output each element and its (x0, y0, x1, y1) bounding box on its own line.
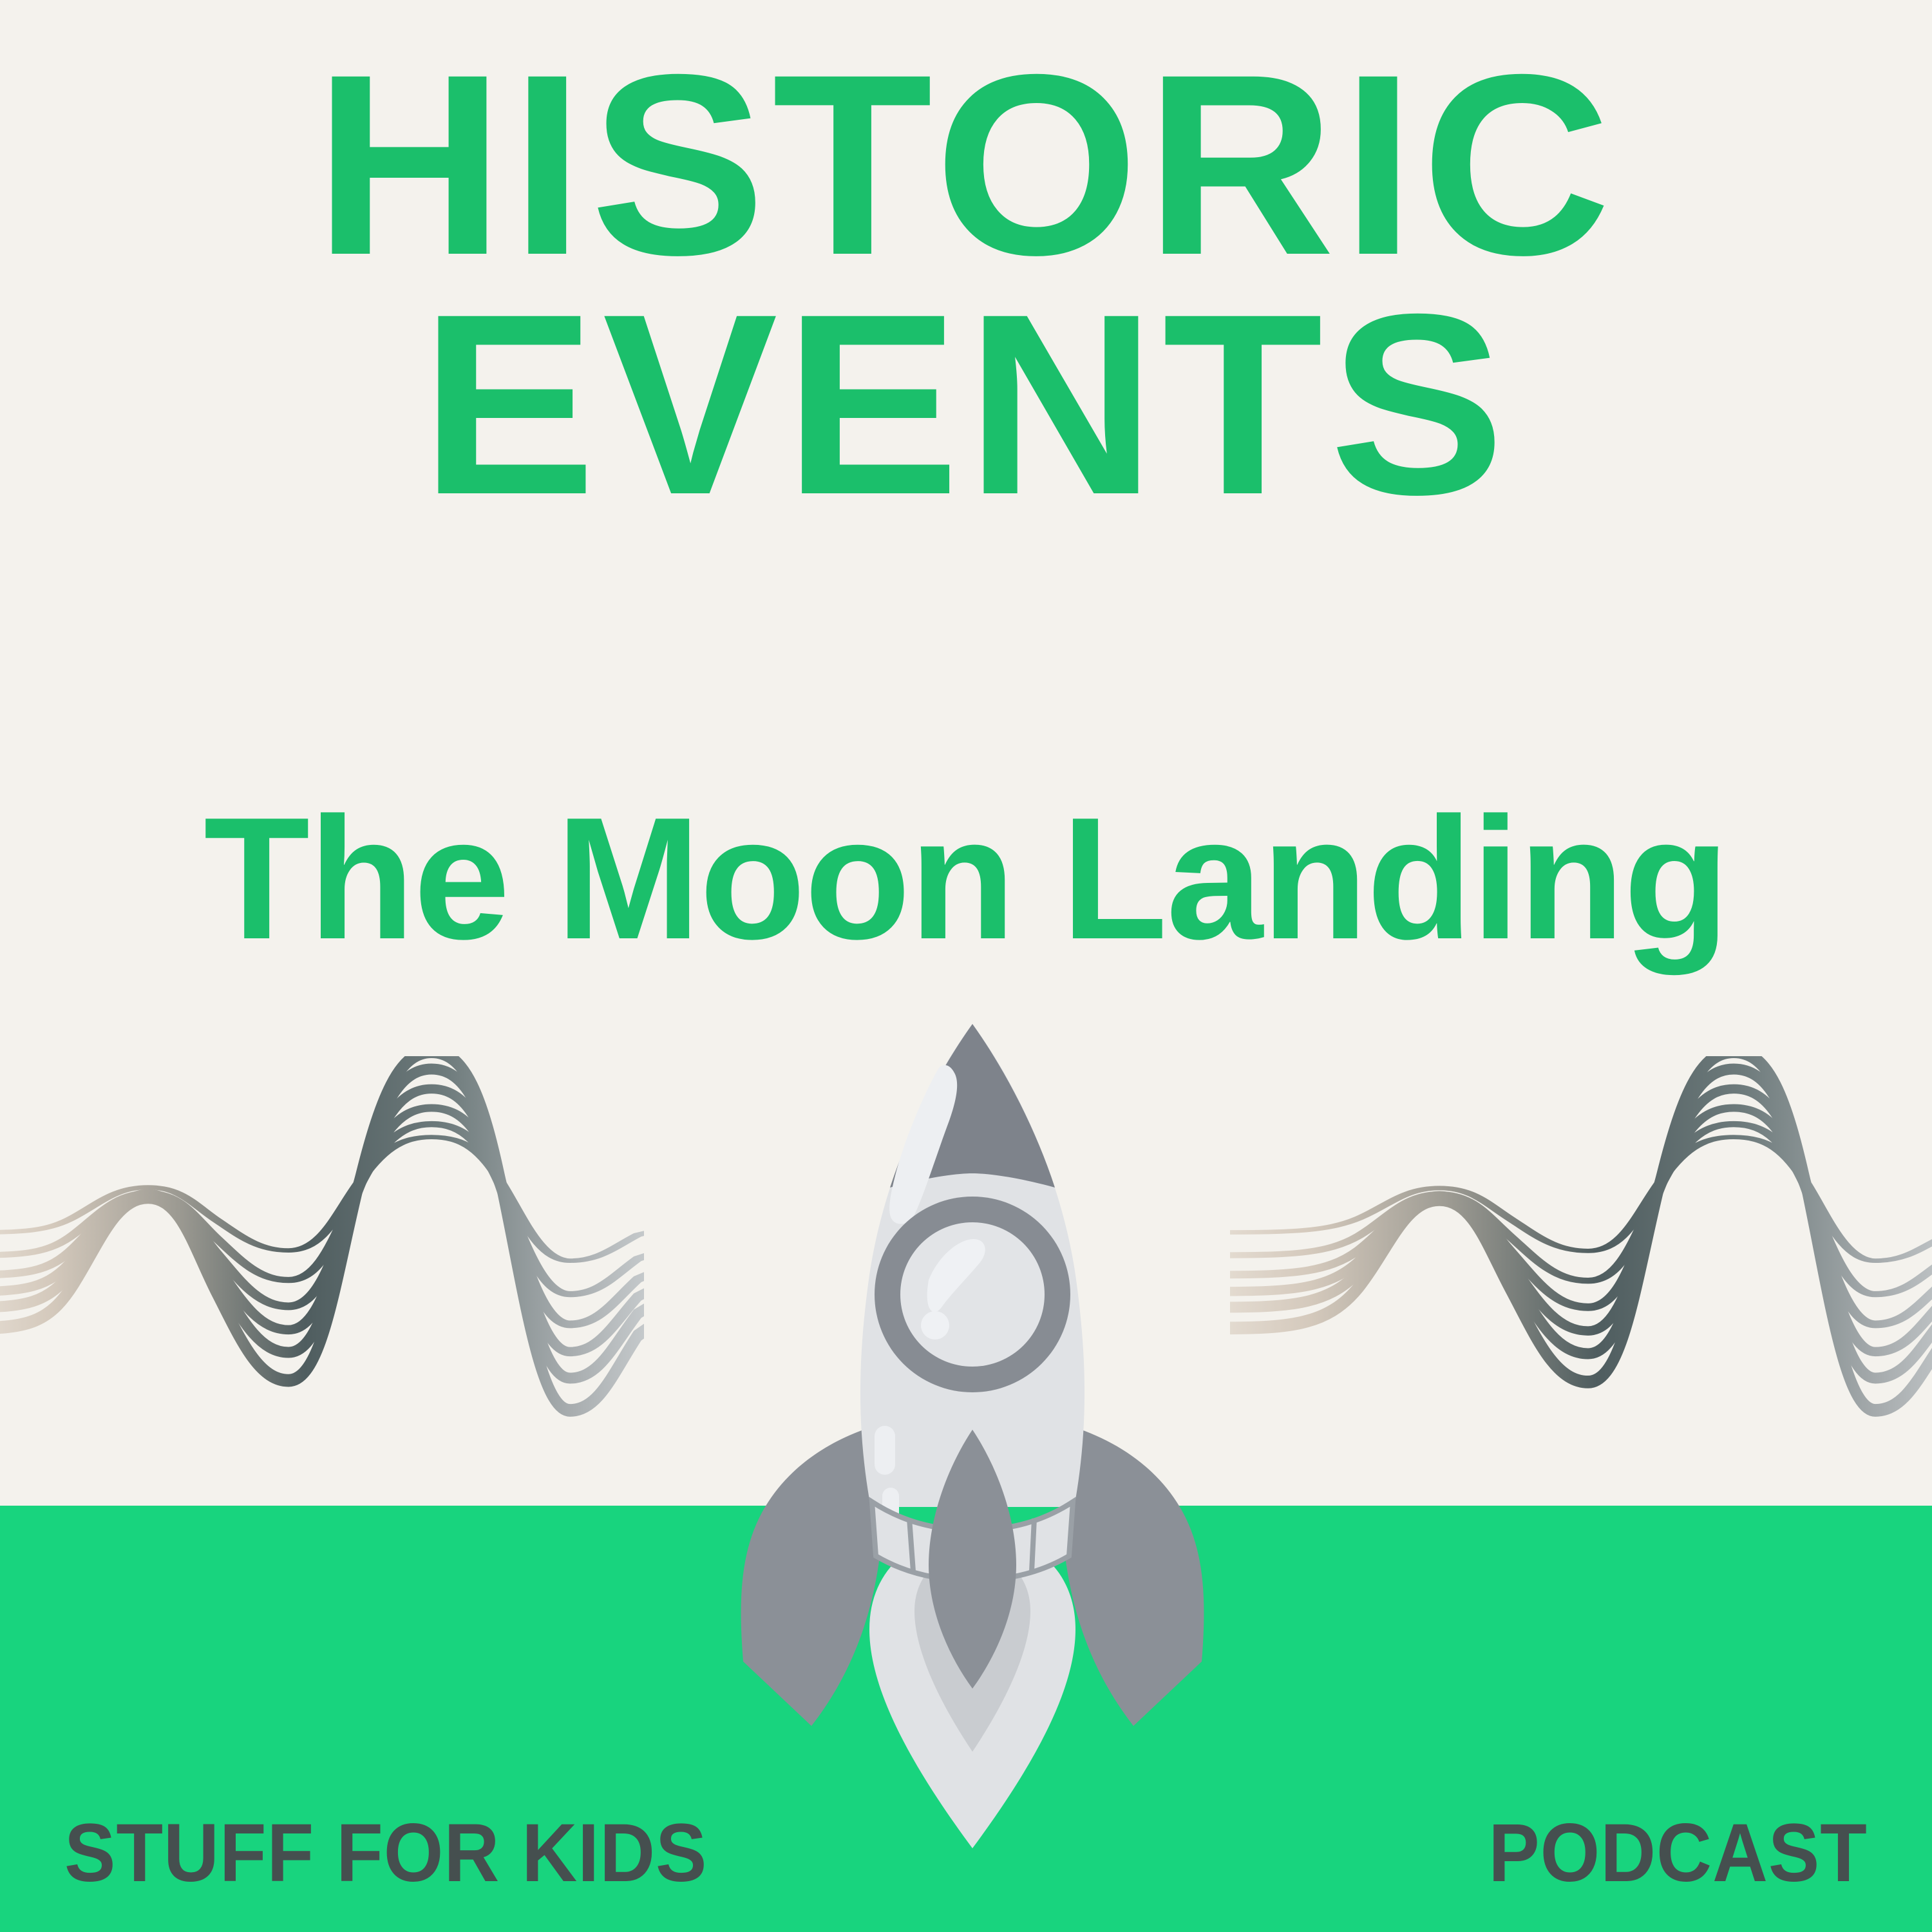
podcast-cover-art: HISTORIC EVENTS The Moon Landing STUFF F… (0, 0, 1932, 1932)
rocket-window-glint-small (921, 1311, 949, 1340)
footer-podcast-label: PODCAST (1488, 1812, 1868, 1895)
soundwave-left (0, 1056, 644, 1520)
title-line-1: HISTORIC (0, 45, 1932, 285)
subtitle-container: The Moon Landing (0, 792, 1932, 966)
rocket-body-highlight-1 (875, 1426, 895, 1475)
footer-brand-label: STUFF FOR KIDS (64, 1812, 707, 1895)
episode-subtitle: The Moon Landing (204, 792, 1728, 966)
page-title: HISTORIC EVENTS (0, 45, 1932, 524)
rocket-icon (734, 1018, 1211, 1855)
rocket-fin-left (741, 1423, 884, 1726)
title-line-2: EVENTS (0, 285, 1932, 524)
rocket-fin-right (1061, 1423, 1204, 1726)
soundwave-right (1230, 1056, 1932, 1520)
